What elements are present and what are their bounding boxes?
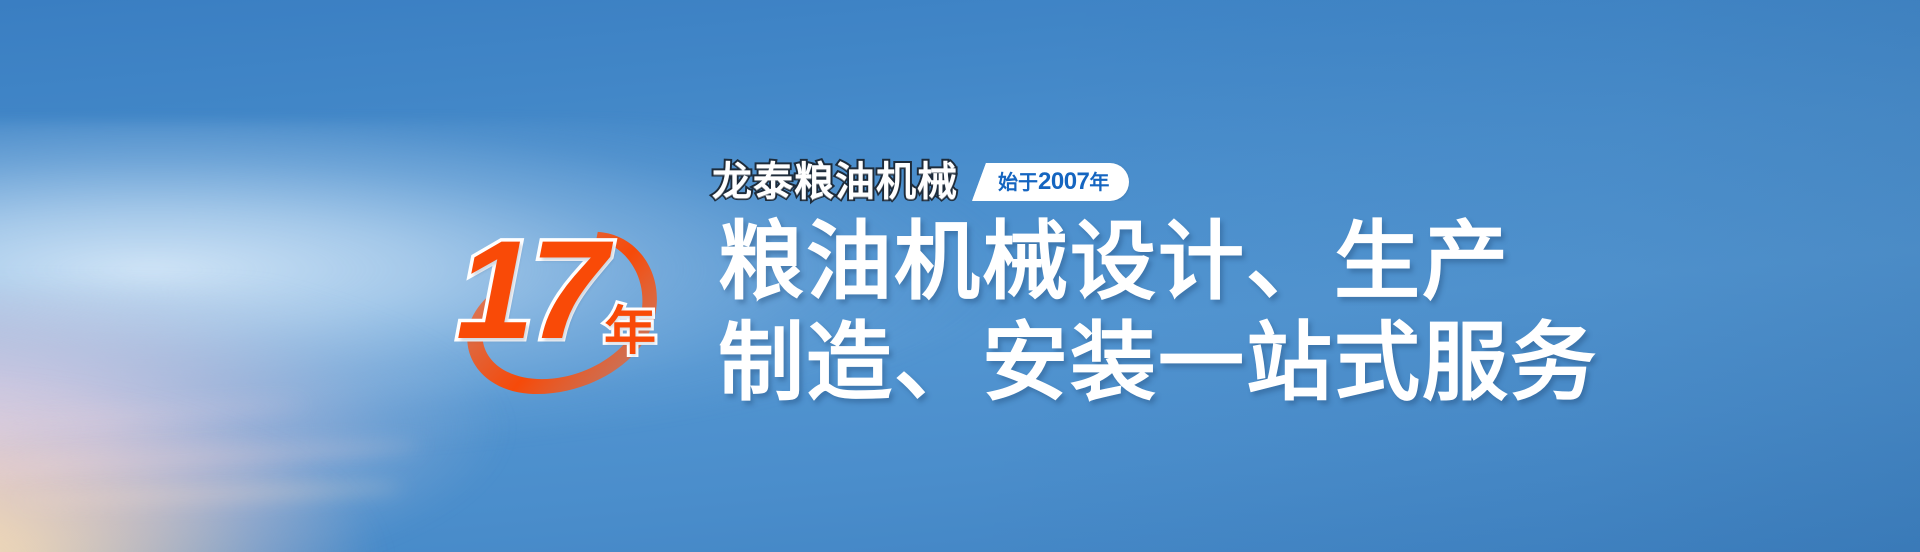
years-unit-label: 年 [604, 306, 656, 358]
established-badge: 始于2007年 [972, 163, 1129, 201]
years-anniversary-badge: 17 年 [452, 218, 702, 393]
headline-block: 粮油机械设计、生产 制造、安装一站式服务 [718, 212, 1598, 415]
headline-line-1: 粮油机械设计、生产 [718, 212, 1598, 313]
established-badge-text: 始于2007年 [998, 170, 1109, 194]
established-year: 2007 [1038, 168, 1089, 195]
hero-banner: 龙泰粮油机械 始于2007年 17 年 [0, 0, 1920, 552]
established-prefix: 始于 [998, 172, 1038, 194]
headline-line-2: 制造、安装一站式服务 [718, 313, 1598, 414]
banner-content: 龙泰粮油机械 始于2007年 17 年 [0, 0, 1920, 552]
years-count: 17 [456, 220, 604, 360]
brand-logo-lockup: 龙泰粮油机械 始于2007年 [712, 162, 1129, 202]
established-suffix: 年 [1089, 172, 1109, 194]
brand-name-text: 龙泰粮油机械 [712, 162, 958, 202]
